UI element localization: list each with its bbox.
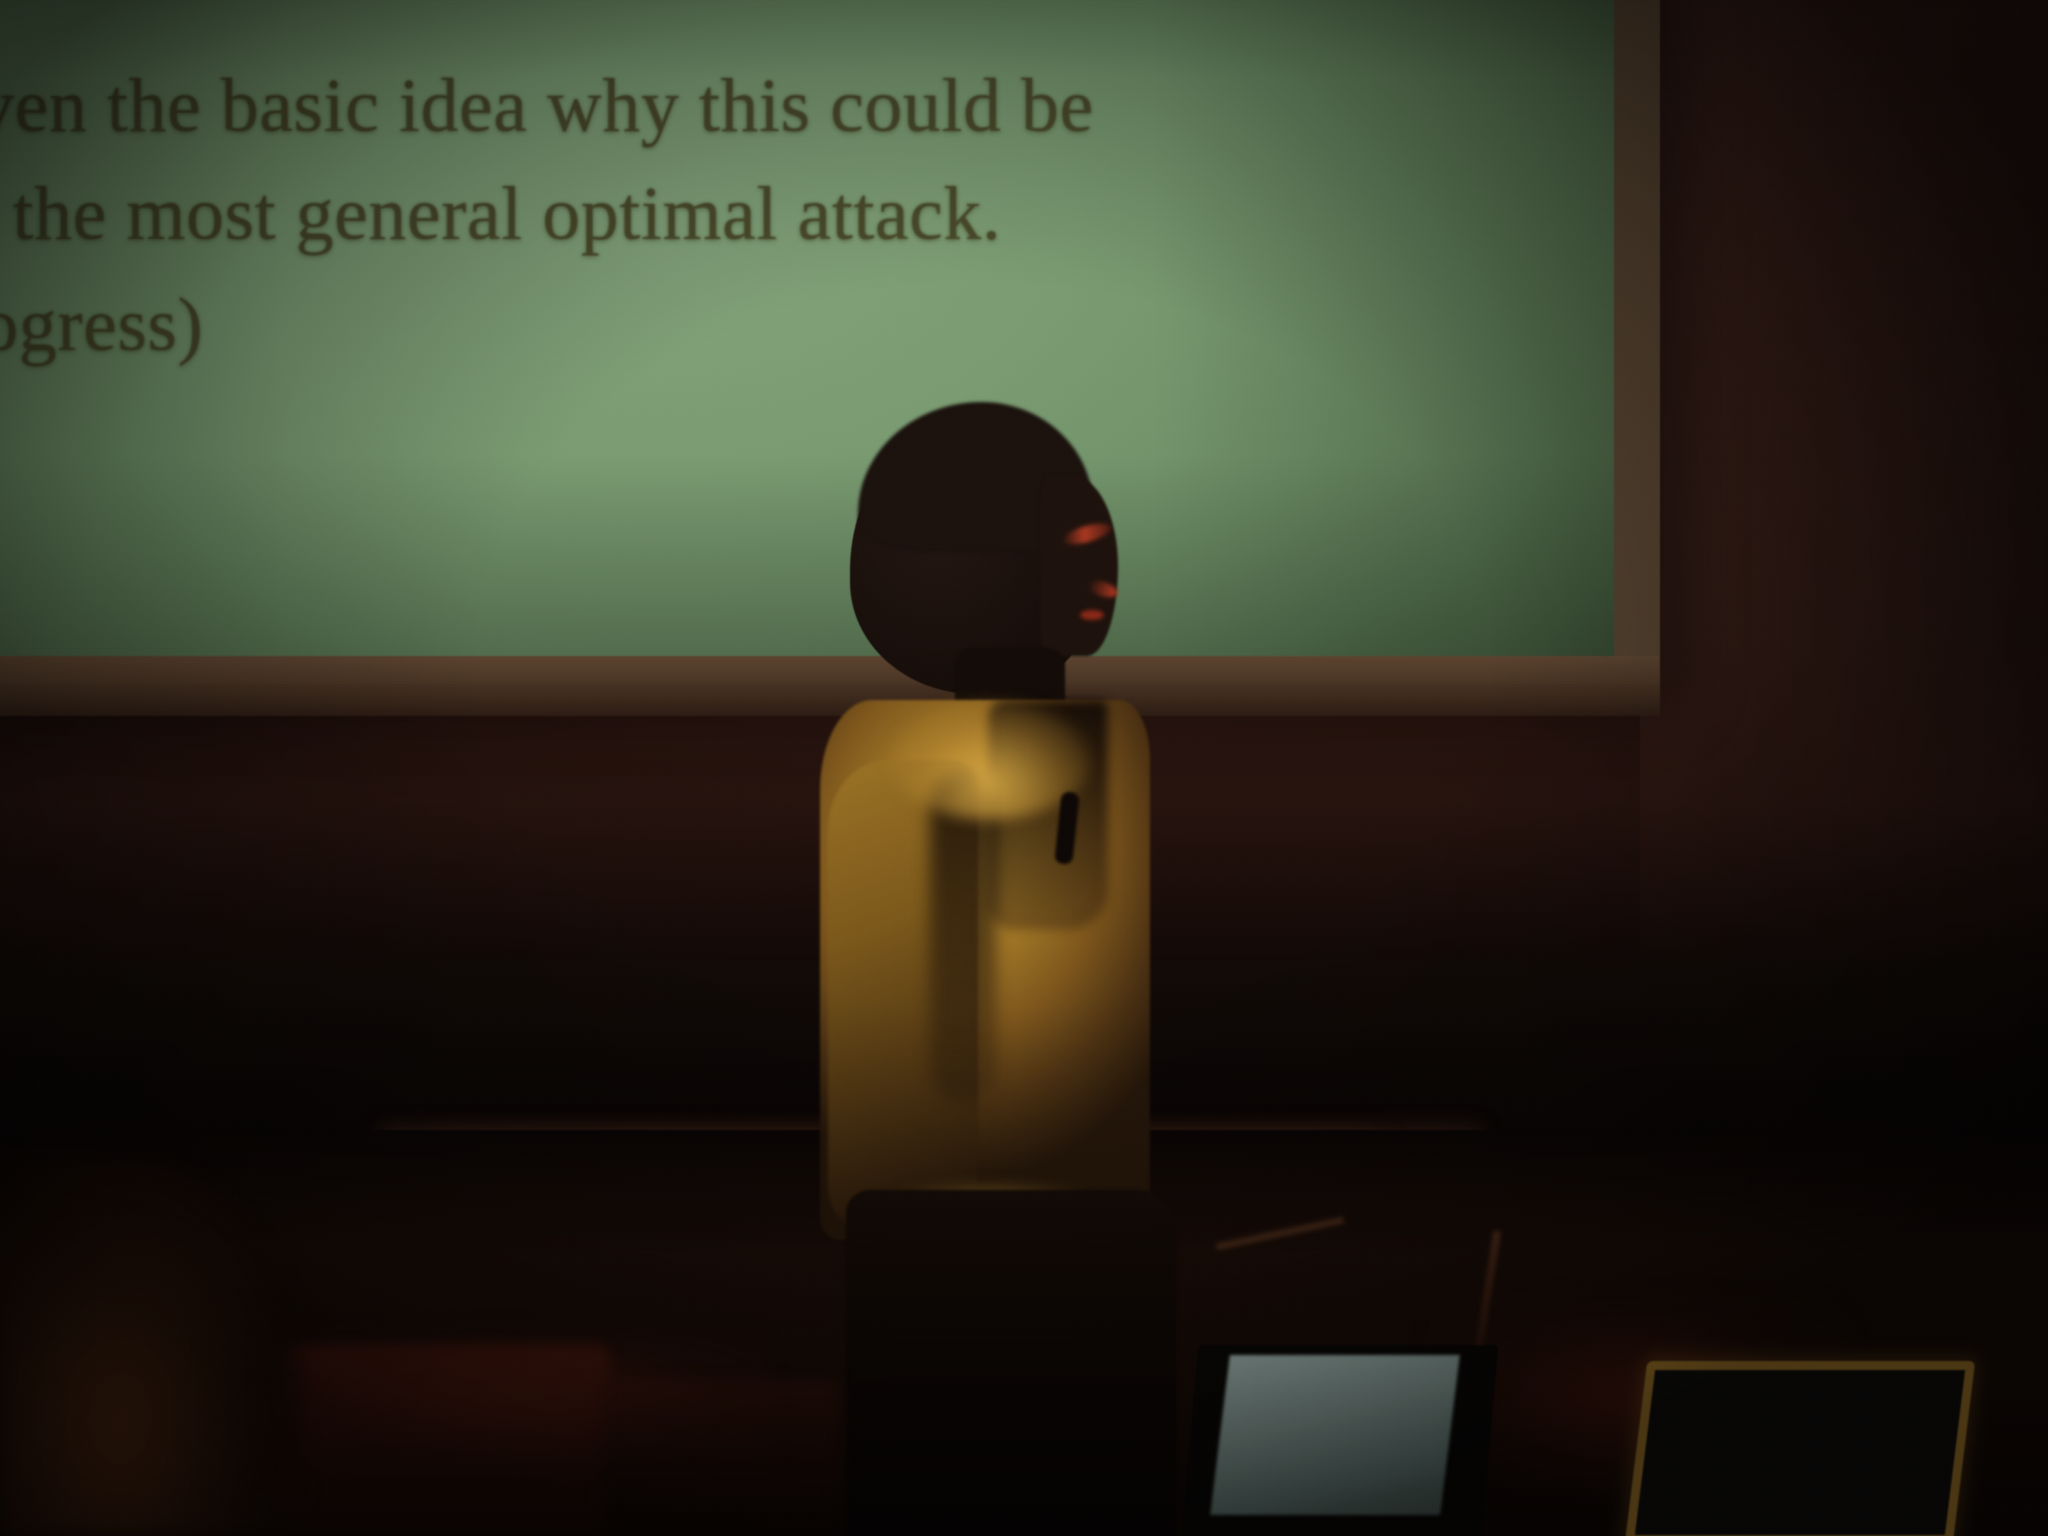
presenter-arm-shadow (930, 772, 996, 1102)
seat-back-left (280, 1345, 610, 1536)
presenter-face-profile (1040, 476, 1118, 656)
slide-line-3: progress) (0, 281, 1614, 371)
laptop-lit-bezel (1630, 1355, 1960, 1536)
slide-text-block: given the basic idea why this could be n… (0, 62, 1614, 371)
seat-back-center (600, 1380, 840, 1536)
slide-line-2: nd the most general optimal attack. (0, 170, 1614, 260)
rim-light-lip (1080, 610, 1104, 620)
laptop-screen-glow (1210, 1355, 1460, 1515)
laptop-bezel (1625, 1361, 1975, 1536)
presenter-trousers (846, 1190, 1176, 1536)
photo-scene: given the basic idea why this could be n… (0, 0, 2048, 1536)
slide-line-1: given the basic idea why this could be (0, 62, 1614, 152)
laptop-open-glowing-screen (1190, 1345, 1490, 1536)
